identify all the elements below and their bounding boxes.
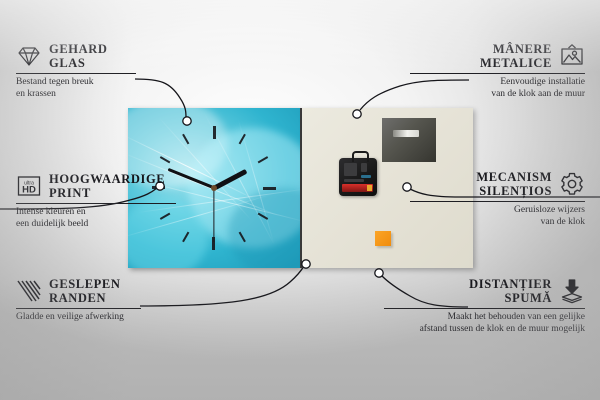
feature-title-line2: SPUMĂ xyxy=(505,291,552,305)
feature-title: HOOGWAARDIGE PRINT xyxy=(49,172,165,200)
feature-heading-row: GEHARD GLAS xyxy=(16,42,136,70)
feature-title-line1: MÂNERE xyxy=(493,42,552,56)
clock-mechanism xyxy=(339,158,377,196)
feature-description: Maakt het behouden van een gelijke afsta… xyxy=(384,312,585,335)
clock-center-cap xyxy=(211,185,217,191)
feature-rule xyxy=(16,308,141,309)
feature-desc-line2: afstand tussen de klok en de muur mogeli… xyxy=(420,324,585,334)
feature-rule xyxy=(384,308,585,309)
feature-desc-line2: en krassen xyxy=(16,89,56,99)
feature-desc-line1: Geruisloze wijzers xyxy=(514,205,585,215)
hanging-picture-icon xyxy=(559,43,585,69)
feature-desc-line1: Gladde en veilige afwerking xyxy=(16,312,124,322)
beveled-edges-icon xyxy=(16,278,42,304)
feature-description: Eenvoudige installatie van de klok aan d… xyxy=(410,77,585,100)
svg-text:HD: HD xyxy=(22,185,36,196)
feature-title-line1: MECANISM xyxy=(476,170,552,184)
metal-hanger-plate xyxy=(382,118,436,162)
feature-title-line2: SILENȚIOS xyxy=(479,184,552,198)
feature-rule xyxy=(16,73,136,74)
feature-description: Intense kleuren en een duidelijk beeld xyxy=(16,207,176,230)
feature-title-line2: RANDEN xyxy=(49,291,106,305)
feature-title-line1: GESLEPEN xyxy=(49,277,121,291)
feature-heading-row: ultra HD HOOGWAARDIGE PRINT xyxy=(16,172,176,200)
feature-rule xyxy=(16,203,176,204)
feature-rule xyxy=(410,201,585,202)
feature-desc-line1: Bestand tegen breuk xyxy=(16,77,94,87)
battery-terminal xyxy=(367,185,372,191)
feature-title-line1: HOOGWAARDIGE xyxy=(49,172,165,186)
battery xyxy=(342,184,373,192)
hanger-slot xyxy=(393,130,419,137)
feature-title-line2: METALICE xyxy=(480,56,552,70)
feature-heading-row: MECANISM SILENȚIOS xyxy=(410,170,585,198)
ultra-hd-icon: ultra HD xyxy=(16,173,42,199)
feature-hoogwaardige-print: ultra HD HOOGWAARDIGE PRINT Intense kleu… xyxy=(16,172,176,230)
feature-title-line1: DISTANȚIER xyxy=(469,277,552,291)
feature-description: Bestand tegen breuk en krassen xyxy=(16,77,136,100)
connector-geslepen-randen xyxy=(140,266,304,306)
feature-geslepen-randen: GESLEPEN RANDEN Gladde en veilige afwerk… xyxy=(16,277,141,324)
feature-mecanism-silentios: MECANISM SILENȚIOS Geruisloze wijzers va… xyxy=(410,170,585,228)
mechanism-hanging-loop xyxy=(352,151,369,162)
connector-dot-distantier-spuma xyxy=(375,269,383,277)
infographic-canvas: GEHARD GLAS Bestand tegen breuk en krass… xyxy=(0,0,600,400)
feature-desc-line1: Eenvoudige installatie xyxy=(500,77,585,87)
feature-desc-line2: van de klok aan de muur xyxy=(491,89,585,99)
feature-desc-line1: Intense kleuren en xyxy=(16,207,86,217)
diamond-icon xyxy=(16,43,42,69)
feature-desc-line2: een duidelijk beeld xyxy=(16,219,88,229)
feature-title-line2: PRINT xyxy=(49,186,91,200)
feature-rule xyxy=(410,73,585,74)
feature-desc-line2: van de klok xyxy=(541,217,585,227)
feature-title-line1: GEHARD xyxy=(49,42,107,56)
spacer-arrow-icon xyxy=(559,278,585,304)
feature-title: DISTANȚIER SPUMĂ xyxy=(469,277,552,305)
feature-title: GEHARD GLAS xyxy=(49,42,107,70)
feature-heading-row: GESLEPEN RANDEN xyxy=(16,277,141,305)
feature-title: MÂNERE METALICE xyxy=(480,42,552,70)
feature-desc-line1: Maakt het behouden van een gelijke xyxy=(448,312,585,322)
feature-gehard-glas: GEHARD GLAS Bestand tegen breuk en krass… xyxy=(16,42,136,100)
feature-manere-metalice: MÂNERE METALICE Eenvoudige installatie v… xyxy=(410,42,585,100)
feature-heading-row: DISTANȚIER SPUMĂ xyxy=(384,277,585,305)
feature-title: MECANISM SILENȚIOS xyxy=(476,170,552,198)
feature-distantier-spuma: DISTANȚIER SPUMĂ Maakt het behouden van … xyxy=(384,277,585,335)
gear-icon xyxy=(559,171,585,197)
feature-description: Geruisloze wijzers van de klok xyxy=(410,205,585,228)
feature-description: Gladde en veilige afwerking xyxy=(16,312,141,324)
foam-spacer xyxy=(375,231,391,246)
feature-title: GESLEPEN RANDEN xyxy=(49,277,121,305)
feature-heading-row: MÂNERE METALICE xyxy=(410,42,585,70)
feature-title-line2: GLAS xyxy=(49,56,85,70)
